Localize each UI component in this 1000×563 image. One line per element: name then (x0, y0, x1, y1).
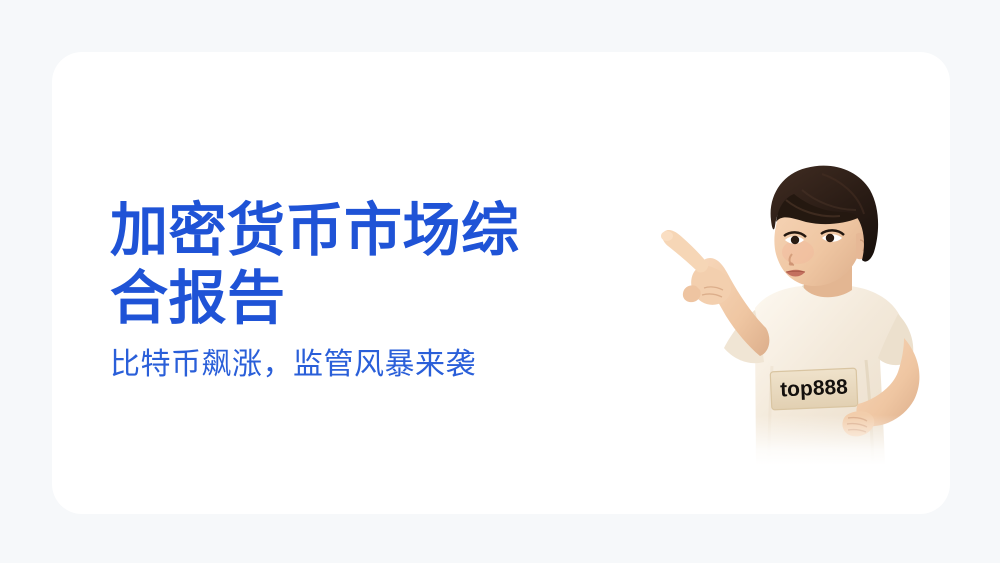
pointing-arm (661, 230, 769, 356)
shirt-text: top888 (780, 376, 849, 402)
text-block: 加密货币市场综 合报告 比特币飙涨，监管风暴来袭 (110, 197, 630, 385)
head (771, 166, 878, 286)
page-title-line-2: 合报告 (110, 265, 590, 333)
child-pointing-illustration: top888 (652, 160, 950, 465)
shirt-patch: top888 (770, 368, 858, 410)
page-title-line-1: 加密货币市场综 (110, 197, 590, 265)
slide-root: 加密货币市场综 合报告 比特币飙涨，监管风暴来袭 (0, 0, 1000, 563)
bottom-fade (712, 415, 932, 465)
content-card: 加密货币市场综 合报告 比特币飙涨，监管风暴来袭 (52, 52, 950, 514)
page-title: 加密货币市场综 合报告 (110, 197, 590, 333)
page-subtitle: 比特币飙涨，监管风暴来袭 (110, 345, 630, 385)
child-pointing-photo: top888 (652, 160, 950, 465)
